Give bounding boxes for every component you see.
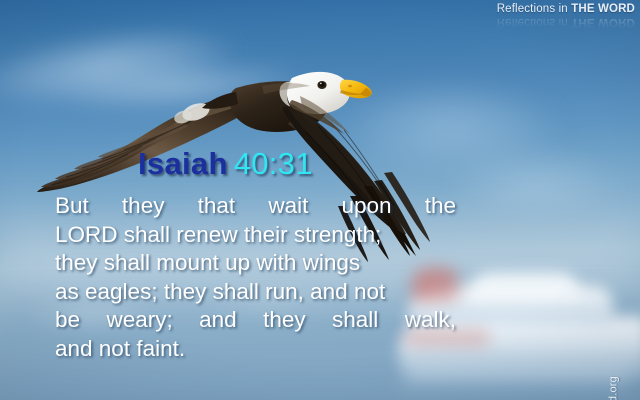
verse-line: But they that wait upon the: [55, 192, 456, 221]
verse-book: Isaiah: [138, 146, 228, 181]
verse-number: 40:31: [234, 146, 313, 181]
verse-line: be weary; and they shall walk,: [55, 306, 456, 335]
verse-line: as eagles; they shall run, and not: [55, 278, 456, 307]
scripture-image: Isaiah40:31 But they that wait upon the …: [0, 0, 640, 400]
verse-line: and not faint.: [55, 335, 456, 364]
verse-text: But they that wait upon the LORD shall r…: [55, 192, 456, 364]
site-watermark: reflectionsintheword.org: [608, 376, 620, 400]
verse-line: they shall mount up with wings: [55, 249, 456, 278]
verse-line: LORD shall renew their strength;: [55, 221, 456, 250]
verse-reference: Isaiah40:31: [138, 148, 313, 179]
